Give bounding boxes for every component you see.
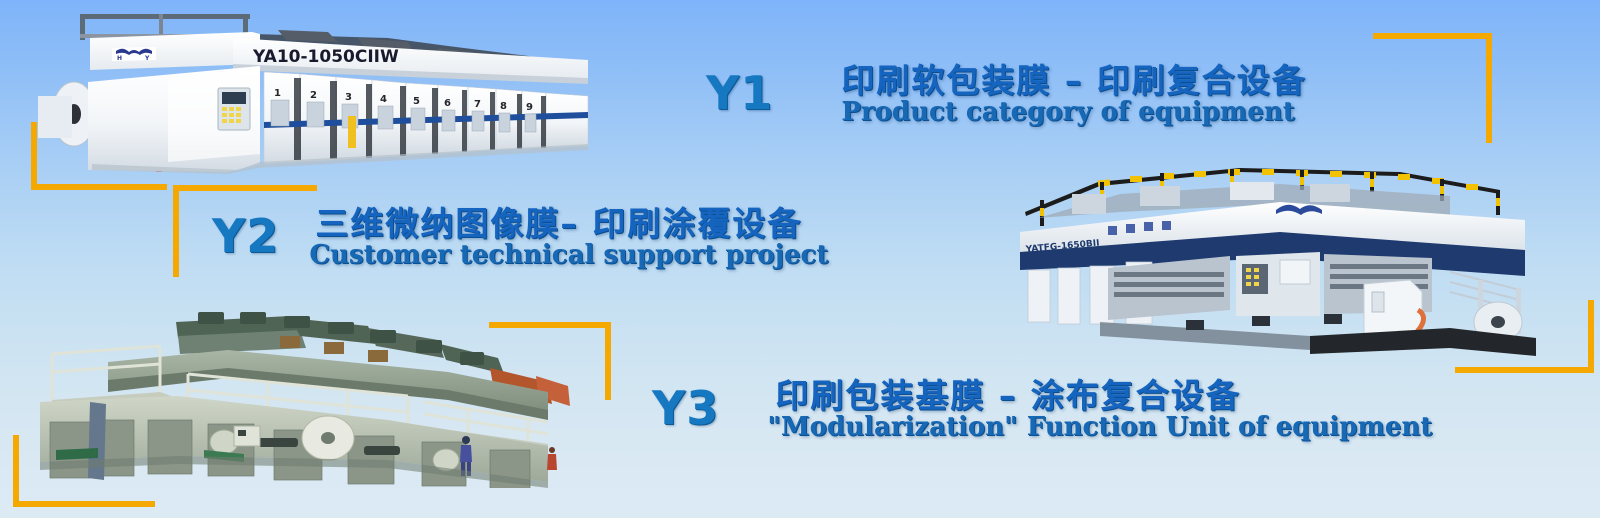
machine-model-text-1: YA10-1050CIIW (252, 47, 399, 67)
entry-y1-english-subtitle: Product category of equipment (841, 99, 1306, 126)
machine-image-rotogravure-printing-press: H Y YA10-1050CIIW (28, 4, 608, 176)
entry-y3-code: Y3 (652, 385, 719, 431)
entry-y2-chinese-title: 三维微纳图像膜– 印刷涂覆设备 (315, 207, 828, 241)
entry-y1: Y1 印刷软包装膜 – 印刷复合设备 Product category of e… (706, 70, 1307, 125)
svg-text:9: 9 (526, 102, 533, 113)
svg-text:2: 2 (310, 90, 317, 101)
svg-text:6: 6 (444, 98, 451, 109)
promo-banner: H Y YA10-1050CIIW (0, 0, 1600, 518)
machine-image-paper-coating-production-line (28, 310, 578, 488)
entry-y3: Y3 印刷包装基膜 – 涂布复合设备 "Modularization" Func… (652, 385, 1432, 440)
svg-text:4: 4 (380, 94, 387, 105)
entry-y3-english-subtitle: "Modularization" Function Unit of equipm… (767, 414, 1432, 441)
entry-y1-lines: 印刷软包装膜 – 印刷复合设备 Product category of equi… (841, 64, 1306, 125)
entry-y3-lines: 印刷包装基膜 – 涂布复合设备 "Modularization" Functio… (767, 379, 1432, 440)
entry-y2-code: Y2 (212, 213, 279, 259)
svg-text:Y: Y (144, 55, 150, 62)
svg-text:5: 5 (413, 96, 420, 107)
entry-y1-chinese-title: 印刷软包装膜 – 印刷复合设备 (841, 64, 1306, 98)
svg-text:3: 3 (345, 92, 352, 103)
entry-y2: Y2 三维微纳图像膜– 印刷涂覆设备 Customer technical su… (212, 213, 828, 268)
entry-y1-code: Y1 (706, 70, 773, 116)
svg-text:1: 1 (274, 88, 281, 99)
entry-y2-english-subtitle: Customer technical support project (309, 242, 828, 269)
svg-text:7: 7 (474, 99, 481, 110)
svg-text:8: 8 (500, 101, 507, 112)
svg-text:H: H (117, 55, 122, 62)
machine-image-coating-laminating-machine: YATFG-1650BII (980, 160, 1540, 365)
entry-y3-chinese-title: 印刷包装基膜 – 涂布复合设备 (775, 379, 1432, 413)
bracket-top-right (1373, 33, 1492, 143)
entry-y2-lines: 三维微纳图像膜– 印刷涂覆设备 Customer technical suppo… (315, 207, 828, 268)
operator-figure (547, 447, 557, 470)
